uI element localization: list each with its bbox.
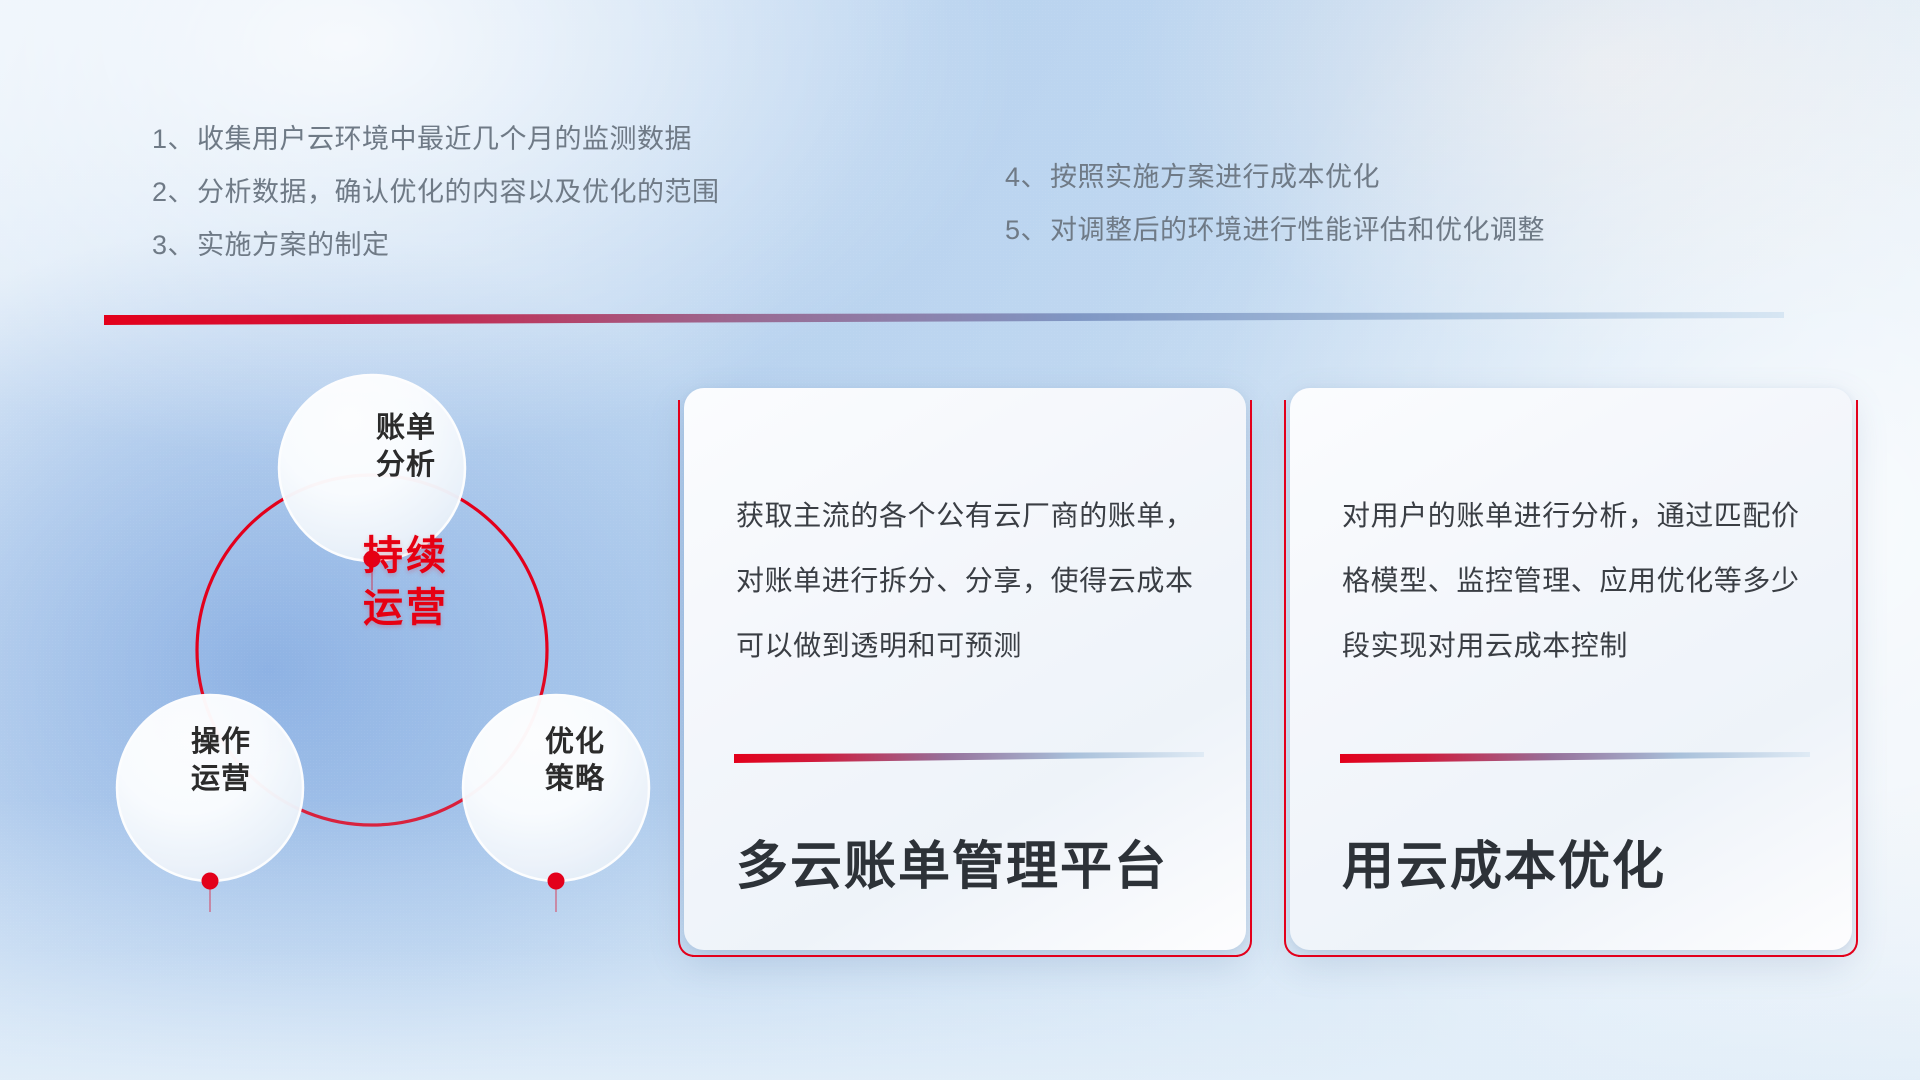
list-item-label: 按照实施方案进行成本优化 bbox=[1050, 164, 1380, 191]
card-cloud-cost-optimization[interactable]: 对用户的账单进行分析，通过匹配价格模型、监控管理、应用优化等多少段实现对用云成本… bbox=[1290, 388, 1852, 950]
center-label-line-2: 运营 bbox=[290, 582, 522, 634]
connector-dot-operations bbox=[202, 873, 219, 890]
continuous-operation-diagram: 账单 分析 操作 运营 优化 策略 持续 运营 bbox=[90, 350, 650, 970]
bubble-label-line-1: 账单 bbox=[316, 410, 496, 447]
list-item-label: 收集用户云环境中最近几个月的监测数据 bbox=[197, 126, 692, 153]
bubble-label-line-2: 分析 bbox=[316, 447, 496, 484]
list-item-number: 3、 bbox=[152, 232, 195, 259]
connector-dot-strategy bbox=[548, 873, 565, 890]
bubble-label-bill-analysis: 账单 分析 bbox=[316, 410, 496, 483]
steps-list-left: 1、 收集用户云环境中最近几个月的监测数据 2、 分析数据，确认优化的内容以及优… bbox=[152, 126, 720, 285]
center-label-line-1: 持续 bbox=[290, 530, 522, 582]
bubble-label-strategy: 优化 策略 bbox=[490, 724, 660, 797]
card-multi-cloud-billing[interactable]: 获取主流的各个公有云厂商的账单，对账单进行拆分、分享，使得云成本可以做到透明和可… bbox=[684, 388, 1246, 950]
list-item-label: 对调整后的环境进行性能评估和优化调整 bbox=[1050, 217, 1545, 244]
card-divider bbox=[1340, 752, 1810, 763]
steps-list-right: 4、 按照实施方案进行成本优化 5、 对调整后的环境进行性能评估和优化调整 bbox=[1005, 164, 1545, 270]
card-body-text: 对用户的账单进行分析，通过匹配价格模型、监控管理、应用优化等多少段实现对用云成本… bbox=[1342, 484, 1812, 679]
bubble-label-operations: 操作 运营 bbox=[136, 724, 306, 797]
list-item-label: 实施方案的制定 bbox=[197, 232, 390, 259]
list-item-number: 2、 bbox=[152, 179, 195, 206]
list-item: 5、 对调整后的环境进行性能评估和优化调整 bbox=[1005, 217, 1545, 244]
card-body-text: 获取主流的各个公有云厂商的账单，对账单进行拆分、分享，使得云成本可以做到透明和可… bbox=[736, 484, 1206, 679]
list-item: 3、 实施方案的制定 bbox=[152, 232, 720, 259]
list-item: 2、 分析数据，确认优化的内容以及优化的范围 bbox=[152, 179, 720, 206]
bubble-label-line-1: 优化 bbox=[490, 724, 660, 761]
bubble-label-line-2: 运营 bbox=[136, 761, 306, 798]
card-bottom-edge bbox=[692, 955, 1238, 957]
list-item: 4、 按照实施方案进行成本优化 bbox=[1005, 164, 1545, 191]
list-item-label: 分析数据，确认优化的内容以及优化的范围 bbox=[197, 179, 720, 206]
card-title: 用云成本优化 bbox=[1342, 824, 1666, 899]
diagram-center-label: 持续 运营 bbox=[290, 530, 522, 634]
list-item-number: 1、 bbox=[152, 126, 195, 153]
card-divider bbox=[734, 752, 1204, 763]
list-item-number: 4、 bbox=[1005, 164, 1048, 191]
card-title: 多云账单管理平台 bbox=[736, 824, 1168, 899]
bubble-label-line-2: 策略 bbox=[490, 761, 660, 798]
list-item: 1、 收集用户云环境中最近几个月的监测数据 bbox=[152, 126, 720, 153]
list-item-number: 5、 bbox=[1005, 217, 1048, 244]
bubble-label-line-1: 操作 bbox=[136, 724, 306, 761]
card-bottom-edge bbox=[1298, 955, 1844, 957]
section-divider bbox=[104, 312, 1784, 325]
